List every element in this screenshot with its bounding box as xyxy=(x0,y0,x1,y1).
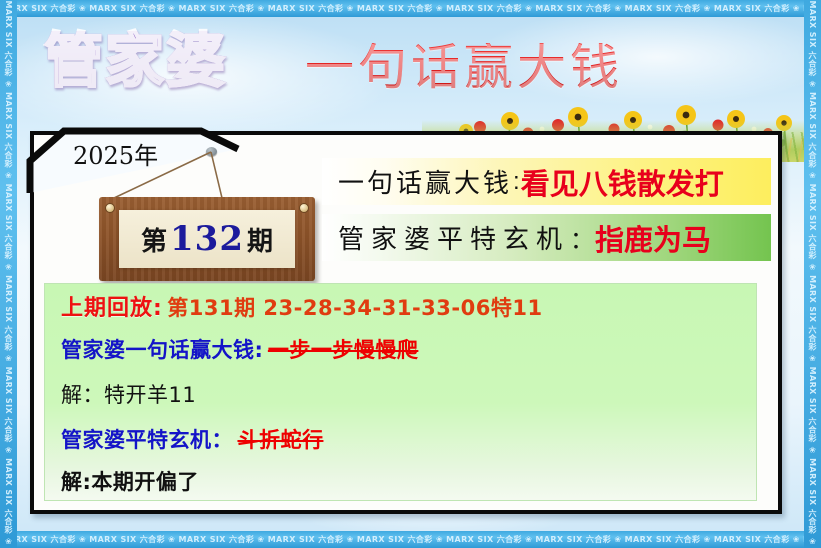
border-bottom: MARX SIX 六合彩 ❀ MARX SIX 六合彩 ❀ MARX SIX 六… xyxy=(0,531,821,548)
issue-sign-board: 第 132 期 xyxy=(99,197,315,281)
yijuhua-history-value: 一步一步慢慢爬 xyxy=(268,338,419,362)
banner-pingte: 管家婆平特玄机 ： 指鹿为马 xyxy=(322,214,771,261)
replay-row: 上期回放: 第131期 23-28-34-31-33-06特11 xyxy=(61,290,543,322)
replay-numbers: 第131期 23-28-34-31-33-06特11 xyxy=(167,296,542,320)
border-bottom-text: MARX SIX 六合彩 ❀ MARX SIX 六合彩 ❀ MARX SIX 六… xyxy=(0,534,821,545)
banner-yijuhua: 一句话赢大钱 : 看见八钱散发打 xyxy=(322,158,771,205)
sign-screw-left-icon xyxy=(105,203,115,213)
header: 管家婆 管家婆 一句话赢大钱 xyxy=(17,17,804,145)
banner-yijuhua-label: 一句话赢大钱 xyxy=(338,163,512,200)
list-item-pingte: 管家婆平特玄机： 斗折蛇行 xyxy=(61,424,323,454)
issue-prefix: 第 xyxy=(141,221,167,258)
header-slogan: 一句话赢大钱 xyxy=(305,43,623,92)
replay-tag: 上期回放: xyxy=(61,296,163,321)
banner-pingte-colon: ： xyxy=(570,220,594,255)
list-item-jie-1: 解：特开羊11 xyxy=(61,379,196,409)
border-top: MARX SIX 六合彩 ❀ MARX SIX 六合彩 ❀ MARX SIX 六… xyxy=(0,0,821,17)
history-content-box: 上期回放: 第131期 23-28-34-31-33-06特11 管家婆一句话赢… xyxy=(44,283,757,501)
yijuhua-history-label: 管家婆一句话赢大钱: xyxy=(61,338,263,362)
border-left: MARX SIX 六合彩 ❀ MARX SIX 六合彩 ❀ MARX SIX 六… xyxy=(0,0,17,548)
sign-screw-right-icon xyxy=(299,203,309,213)
issue-number: 132 xyxy=(170,219,244,259)
list-item-jie-2: 解:本期开偏了 xyxy=(61,466,199,496)
poster-root: 管家婆 管家婆 一句话赢大钱 xyxy=(0,0,821,548)
pingte-history-value: 斗折蛇行 xyxy=(237,428,323,452)
border-top-text: MARX SIX 六合彩 ❀ MARX SIX 六合彩 ❀ MARX SIX 六… xyxy=(0,3,821,14)
border-left-text: MARX SIX 六合彩 ❀ MARX SIX 六合彩 ❀ MARX SIX 六… xyxy=(3,0,14,548)
jie-2-text: 解:本期开偏了 xyxy=(61,470,199,494)
sign-paper: 第 132 期 xyxy=(119,210,295,268)
jie-1-text: 解：特开羊11 xyxy=(61,383,196,407)
border-right: MARX SIX 六合彩 ❀ MARX SIX 六合彩 ❀ MARX SIX 六… xyxy=(804,0,821,548)
issue-suffix: 期 xyxy=(247,221,273,258)
issue-number-text: 第 132 期 xyxy=(119,210,295,268)
pingte-history-label: 管家婆平特玄机： xyxy=(61,428,233,452)
banner-yijuhua-value: 看见八钱散发打 xyxy=(521,161,724,203)
list-item-yijuhua: 管家婆一句话赢大钱: 一步一步慢慢爬 xyxy=(61,334,418,364)
banner-yijuhua-colon: : xyxy=(513,168,520,196)
brand-title: 管家婆 xyxy=(44,31,227,90)
border-right-text: MARX SIX 六合彩 ❀ MARX SIX 六合彩 ❀ MARX SIX 六… xyxy=(807,0,818,548)
banner-pingte-value: 指鹿为马 xyxy=(595,217,711,259)
banner-pingte-label: 管家婆平特玄机 xyxy=(338,219,569,256)
